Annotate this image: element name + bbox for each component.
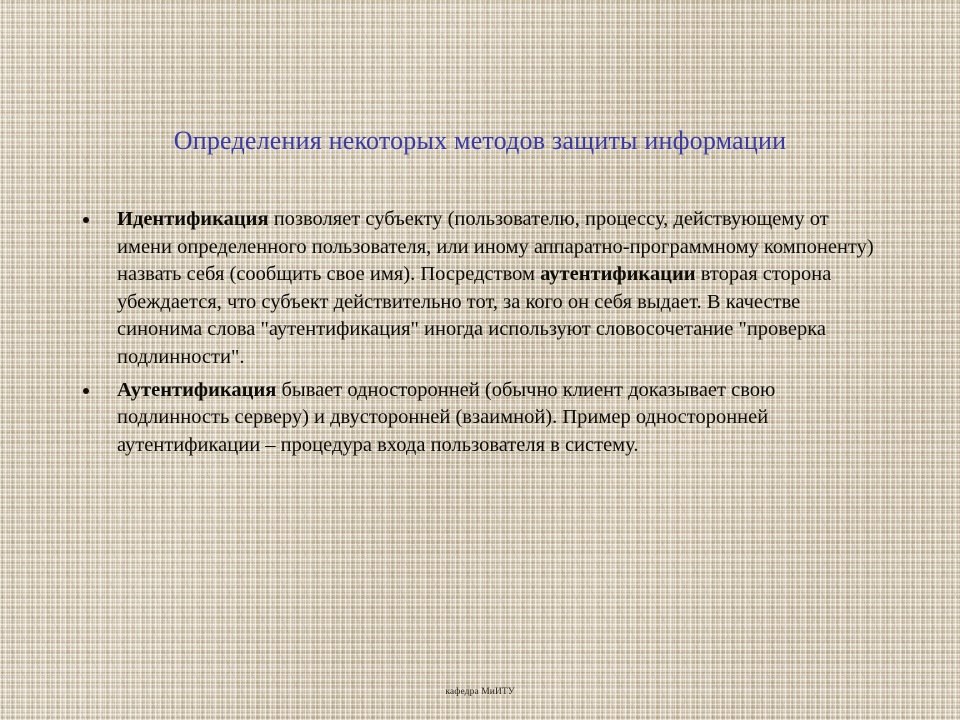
bullet-item-text: Идентификация позволяет субъекту (пользо… bbox=[117, 208, 874, 368]
slide-body-bullet-list: Идентификация позволяет субъекту (пользо… bbox=[78, 206, 888, 459]
slide-content-area: Определения некоторых методов защиты инф… bbox=[0, 0, 960, 720]
bullet-list-item: Идентификация позволяет субъекту (пользо… bbox=[78, 206, 888, 372]
slide-title: Определения некоторых методов защиты инф… bbox=[0, 125, 960, 157]
bullet-dot-icon bbox=[83, 217, 89, 223]
bullet-list-item: Аутентификация бывает односторонней (обы… bbox=[78, 377, 888, 460]
slide-footer-department: кафедра МиИТУ bbox=[0, 686, 960, 698]
bullet-dot-icon bbox=[83, 388, 89, 394]
bullet-item-text: Аутентификация бывает односторонней (обы… bbox=[117, 379, 775, 456]
presentation-slide: Определения некоторых методов защиты инф… bbox=[0, 0, 960, 720]
